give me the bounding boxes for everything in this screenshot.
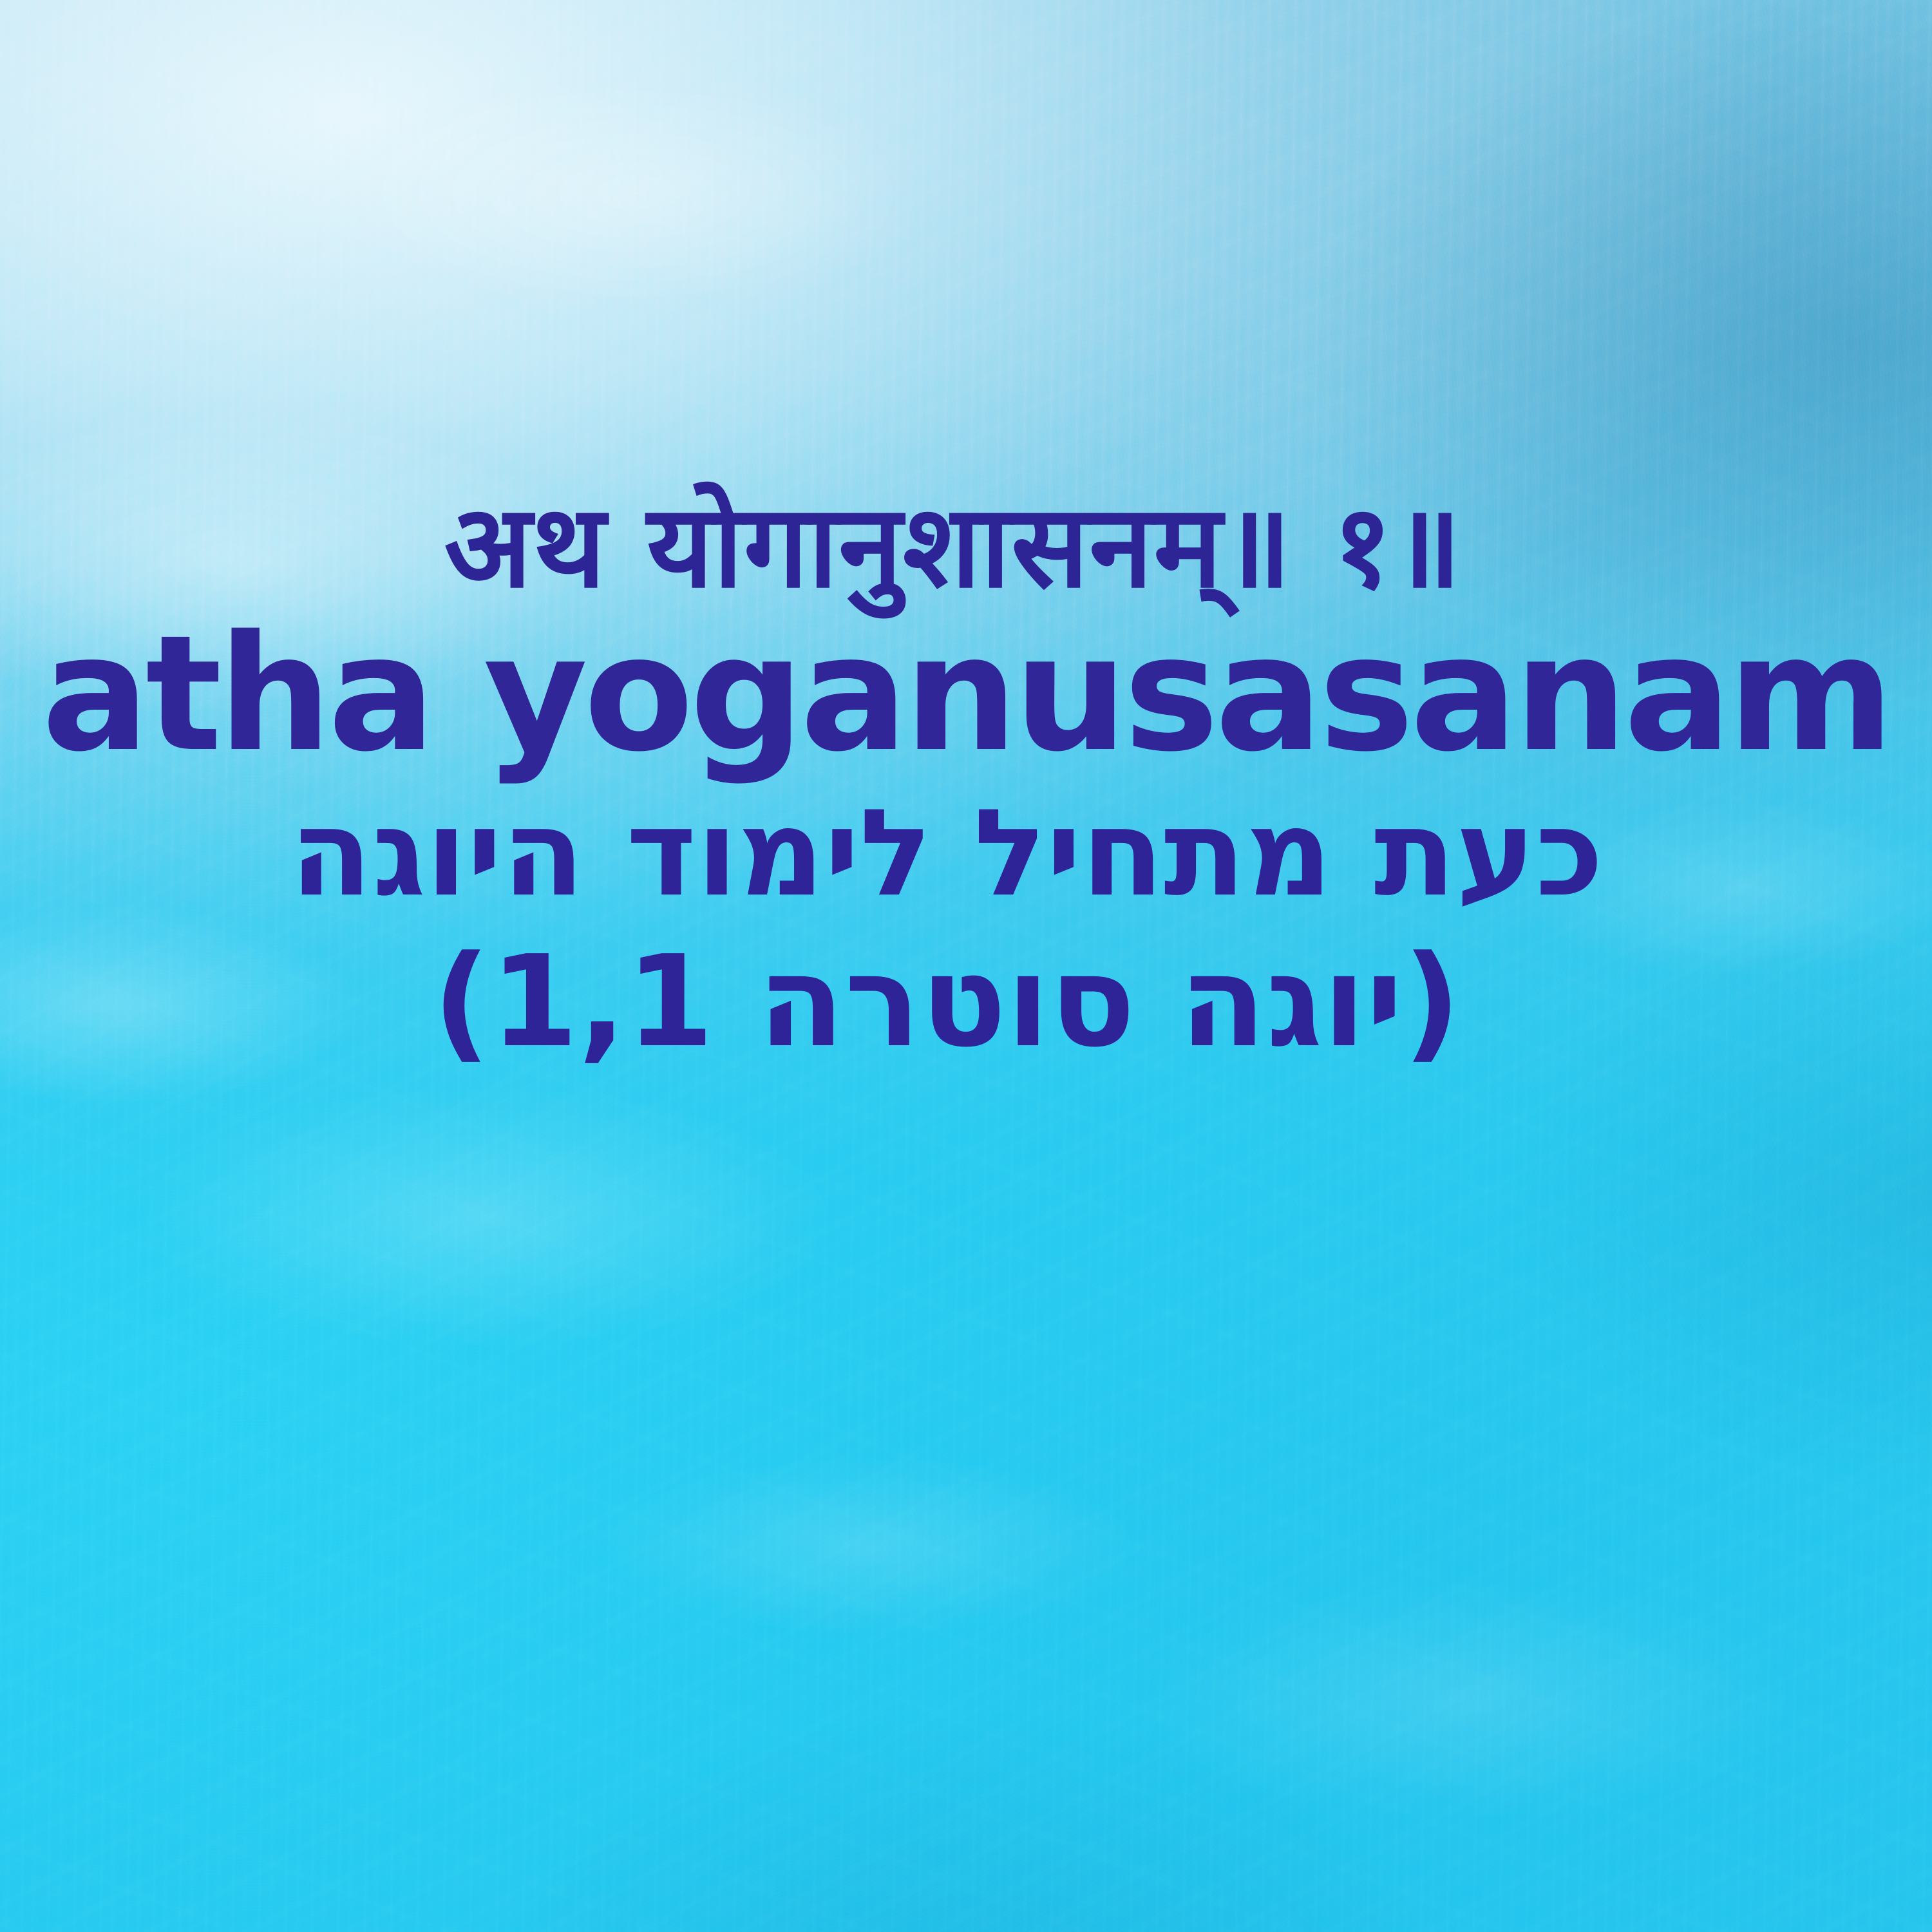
sanskrit-sutra-line: अथ योगानुशासनम्॥ १॥ <box>26 489 1906 604</box>
quote-card: अथ योगानुशासनम्॥ १॥ atha yoganusasanam כ… <box>0 0 1932 1932</box>
hebrew-translation-line: כעת מתחיל לימוד היוגה <box>26 793 1906 913</box>
quote-text-block: अथ योगानुशासनम्॥ १॥ atha yoganusasanam כ… <box>0 489 1932 1065</box>
hebrew-citation-line: (יוגה סוטרה 1,1) <box>26 939 1906 1065</box>
transliteration-line: atha yoganusasanam <box>26 614 1906 774</box>
